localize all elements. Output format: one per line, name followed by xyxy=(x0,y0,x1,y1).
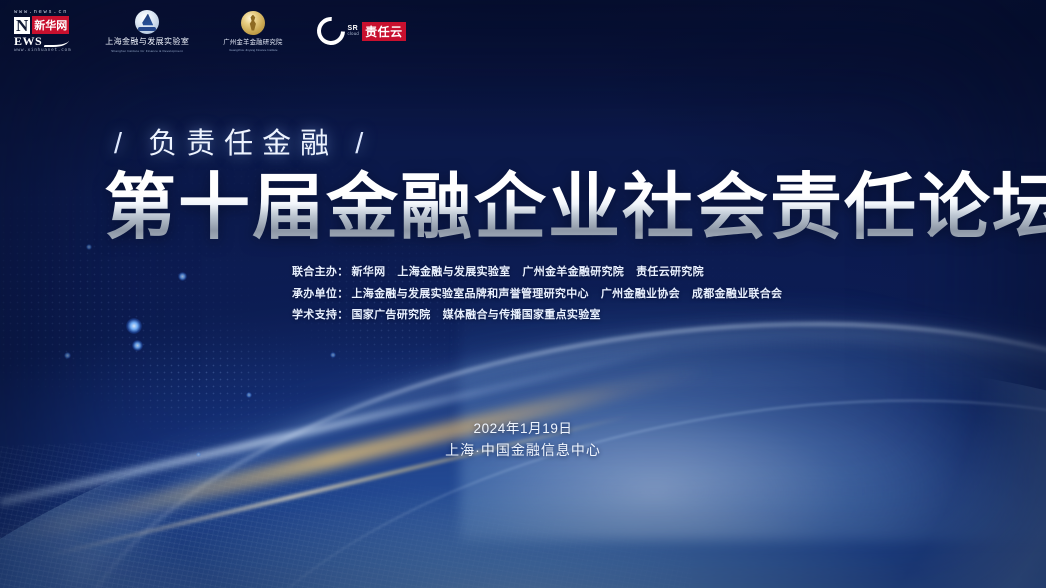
poster-title: 第十届金融企业社会责任论坛 xyxy=(104,168,1046,246)
organizer-row-label: 学术支持： xyxy=(292,309,349,321)
organizer-item: 国家广告研究院 xyxy=(352,309,431,321)
glow-particle xyxy=(330,352,336,358)
organizer-row-label: 承办单位： xyxy=(292,288,349,300)
guangzhou-institute-cn-name: 广州金羊金融研究院 xyxy=(223,37,282,46)
organizer-item: 成都金融业联合会 xyxy=(692,288,782,300)
glow-particle xyxy=(132,340,143,351)
kicker-text: 负责任金融 xyxy=(148,128,338,160)
conference-poster: www.news.cn N 新华网 EWS www.xinhuanet.com … xyxy=(0,0,1046,588)
sr-cloud-abbr-sub: cloud xyxy=(348,32,360,36)
organizer-row: 承办单位：上海金融与发展实验室品牌和声誉管理研究中心广州金融业协会成都金融业联合… xyxy=(292,284,794,306)
organizer-row: 学术支持：国家广告研究院媒体融合与传播国家重点实验室 xyxy=(292,305,794,327)
event-details: 2024年1月19日 上海·中国金融信息中心 xyxy=(0,418,1046,461)
event-date: 2024年1月19日 xyxy=(0,418,1046,439)
organizer-credits: 联合主办：新华网上海金融与发展实验室广州金羊金融研究院责任云研究院 承办单位：上… xyxy=(292,262,794,327)
event-venue: 上海·中国金融信息中心 xyxy=(0,439,1046,461)
logo-shanghai-finance-lab[interactable]: 上海金融与发展实验室 Shanghai Institute for Financ… xyxy=(105,10,189,53)
organizer-item: 上海金融与发展实验室品牌和声誉管理研究中心 xyxy=(352,288,589,300)
poster-kicker: / 负责任金融 / xyxy=(114,120,372,162)
logo-sr-cloud[interactable]: SR cloud 责任云 xyxy=(317,17,406,45)
kicker-slash-right: / xyxy=(355,128,372,160)
organizer-row-label: 联合主办： xyxy=(292,266,349,278)
sponsor-logo-bar: www.news.cn N 新华网 EWS www.xinhuanet.com … xyxy=(0,0,1046,62)
organizer-item: 广州金羊金融研究院 xyxy=(522,266,624,278)
glow-particle xyxy=(178,272,187,281)
glow-particle xyxy=(64,352,71,359)
guangzhou-institute-en-name: Guangzhou Jinyang Finance Institute xyxy=(229,48,277,52)
shanghai-lab-cn-name: 上海金融与发展实验室 xyxy=(105,36,189,47)
xinhuanet-bottom-url: www.xinhuanet.com xyxy=(14,48,71,53)
logo-guangzhou-institute[interactable]: 广州金羊金融研究院 Guangzhou Jinyang Finance Inst… xyxy=(223,11,282,52)
glow-particle xyxy=(126,318,142,334)
xinhuanet-top-url: www.news.cn xyxy=(14,9,68,15)
kicker-slash-left: / xyxy=(114,128,131,160)
shanghai-lab-en-name: Shanghai Institute for Finance & Develop… xyxy=(111,49,183,53)
sr-c-ring-icon xyxy=(311,11,351,51)
organizer-item: 上海金融与发展实验室 xyxy=(397,266,510,278)
xinhuanet-swoosh-icon xyxy=(44,36,70,47)
xinhuanet-ews-text: EWS xyxy=(14,35,42,47)
sailboat-seal-icon xyxy=(135,10,159,34)
xinhuanet-n-glyph-icon: N xyxy=(14,17,30,34)
xinhuanet-sub-row: EWS xyxy=(14,35,69,47)
logo-xinhuanet[interactable]: www.news.cn N 新华网 EWS www.xinhuanet.com xyxy=(14,9,71,53)
organizer-item: 媒体融合与传播国家重点实验室 xyxy=(443,309,601,321)
organizer-row: 联合主办：新华网上海金融与发展实验室广州金羊金融研究院责任云研究院 xyxy=(292,262,794,284)
sr-cloud-cn-name: 责任云 xyxy=(362,22,406,41)
glow-particle xyxy=(246,392,252,398)
organizer-item: 新华网 xyxy=(352,266,386,278)
glow-particle xyxy=(86,244,92,250)
gold-coin-seal-icon xyxy=(241,11,265,35)
organizer-item: 责任云研究院 xyxy=(636,266,704,278)
sr-cloud-abbr-block: SR cloud xyxy=(348,25,360,36)
xinhuanet-mark-row: N 新华网 xyxy=(14,16,69,34)
organizer-item: 广州金融业协会 xyxy=(601,288,680,300)
xinhuanet-cn-name: 新华网 xyxy=(32,16,69,34)
